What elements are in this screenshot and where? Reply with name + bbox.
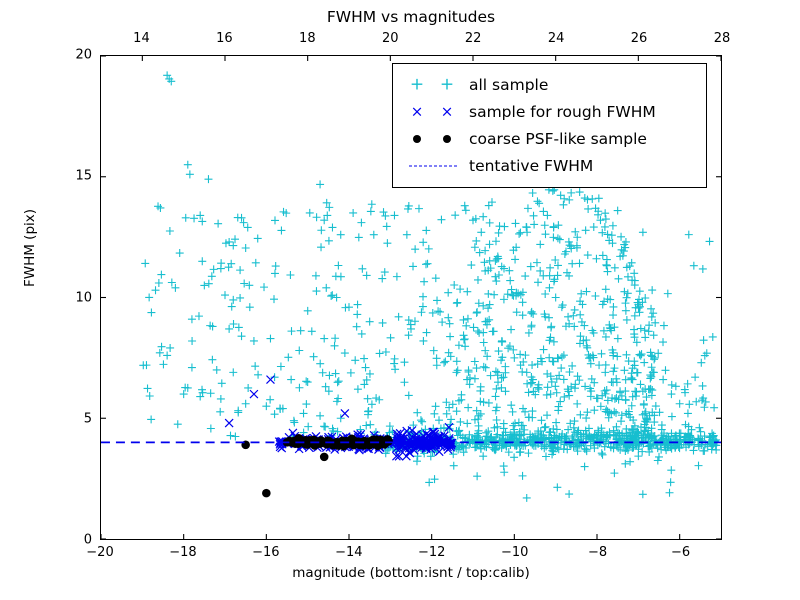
tick-label: 16 (216, 31, 233, 46)
plus-marker-icon: + (410, 76, 424, 93)
plus-marker-icon: + (440, 76, 454, 93)
legend-item-label: all sample (463, 76, 548, 94)
legend-item-label: sample for rough FWHM (463, 103, 656, 121)
tick-label: 20 (382, 31, 399, 46)
tick-label: 0 (84, 533, 92, 548)
dot-marker-icon (443, 135, 451, 143)
legend-item: ××sample for rough FWHM (401, 98, 696, 125)
tick-label: 14 (133, 31, 150, 46)
tick-label: 5 (84, 411, 92, 426)
tick-label: 20 (75, 48, 92, 63)
cross-marker-icon: × (441, 104, 454, 119)
legend-item: coarse PSF-like sample (401, 125, 696, 152)
legend-marker-dashed-line (401, 154, 463, 178)
legend-item-label: coarse PSF-like sample (463, 130, 647, 148)
tick-label: −12 (418, 545, 445, 560)
chart-legend: ++all sample××sample for rough FWHMcoars… (392, 63, 707, 188)
tick-label: 26 (631, 31, 648, 46)
tick-label: −6 (671, 545, 690, 560)
y-axis-label: FWHM (pix) (22, 158, 38, 338)
tick-label: 18 (299, 31, 316, 46)
tick-label: 22 (465, 31, 482, 46)
legend-marker-o (401, 127, 463, 151)
figure-canvas: FWHM vs magnitudes FWHM (pix) magnitude … (0, 0, 800, 600)
legend-item-label: tentative FWHM (463, 157, 593, 175)
series-coarse-psf (241, 434, 393, 497)
legend-item: tentative FWHM (401, 152, 696, 179)
cross-marker-icon: × (411, 104, 424, 119)
x-axis-label: magnitude (bottom:isnt / top:calib) (100, 565, 722, 581)
tick-label: −16 (252, 545, 279, 560)
legend-marker-x: ×× (401, 100, 463, 124)
legend-marker-: ++ (401, 73, 463, 97)
tick-label: −10 (501, 545, 528, 560)
tick-label: 15 (75, 169, 92, 184)
dashed-line-icon (409, 165, 457, 166)
tick-label: −14 (335, 545, 362, 560)
tick-label: −8 (588, 545, 607, 560)
tick-label: −18 (169, 545, 196, 560)
tick-label: 28 (714, 31, 731, 46)
page-title: FWHM vs magnitudes (100, 8, 722, 26)
legend-item: ++all sample (401, 71, 696, 98)
tick-label: 10 (75, 290, 92, 305)
tick-label: 24 (548, 31, 565, 46)
dot-marker-icon (413, 135, 421, 143)
